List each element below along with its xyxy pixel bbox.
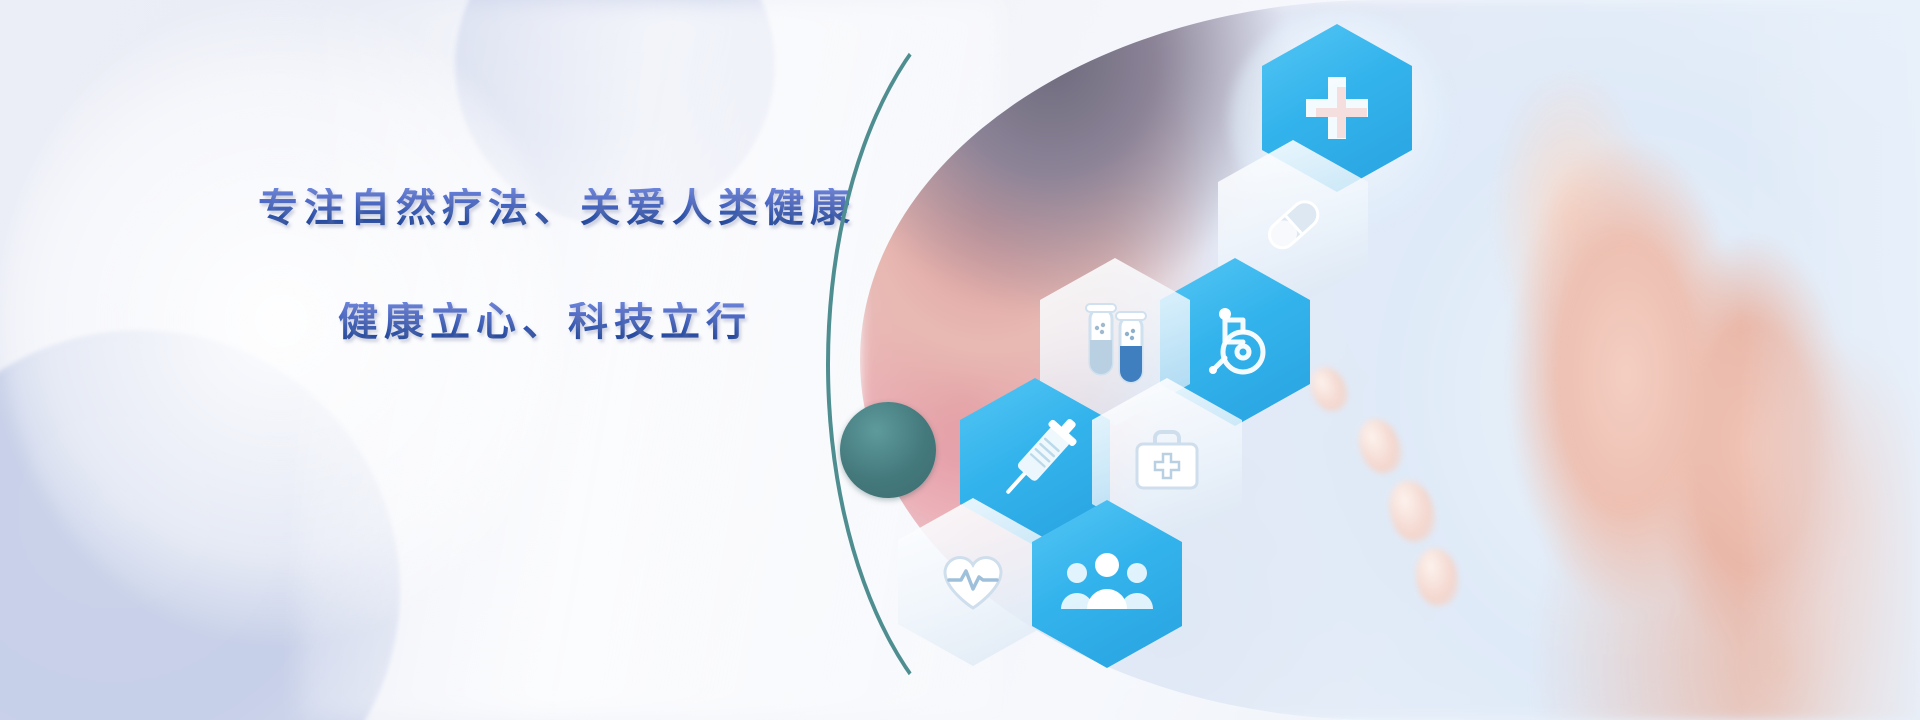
headline-line-2: 健康立心、科技立行: [338, 302, 858, 342]
hand-blur-layer: [1220, 0, 1920, 720]
doctor-photo-panel: [860, 0, 1920, 720]
headline-line-1: 专注自然疗法、关爱人类健康: [258, 188, 858, 228]
hero-banner: 专注自然疗法、关爱人类健康 健康立心、科技立行: [0, 0, 1920, 720]
headline-block: 专注自然疗法、关爱人类健康 健康立心、科技立行: [258, 188, 858, 342]
teal-arc-dot: [840, 402, 936, 498]
